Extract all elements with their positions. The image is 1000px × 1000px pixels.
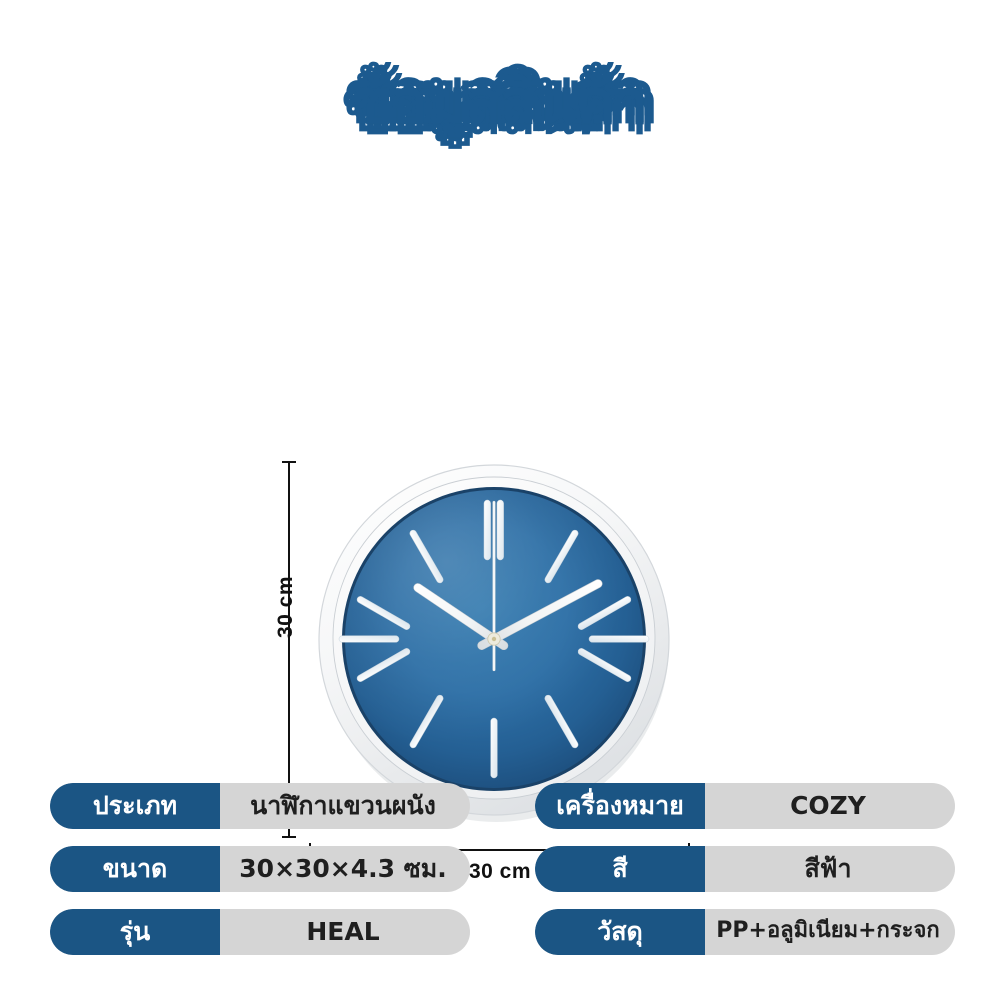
spec-row-material: วัสดุ PP+อลูมิเนียม+กระจก	[535, 909, 955, 955]
spec-key-color: สี	[535, 846, 705, 892]
spec-key-brand: เครื่องหมาย	[535, 783, 705, 829]
spec-table-left: ประเภท นาฬิกาแขวนผนัง ขนาด 30×30×4.3 ซม.…	[50, 783, 470, 972]
spec-row-model: รุ่น HEAL	[50, 909, 470, 955]
spec-row-brand: เครื่องหมาย COZY	[535, 783, 955, 829]
product-image-section: 30 cm 30 cm	[0, 190, 1000, 710]
page-title-container: ข้อมูลสินค้า	[0, 72, 1000, 133]
spec-row-color: สี สีฟ้า	[535, 846, 955, 892]
wall-clock-image	[318, 452, 670, 824]
spec-value-type: นาฬิกาแขวนผนัง	[220, 783, 470, 829]
product-info-infographic: ข้อมูลสินค้า 30 cm 30 cm	[0, 0, 1000, 1000]
spec-key-model: รุ่น	[50, 909, 220, 955]
spec-value-size: 30×30×4.3 ซม.	[220, 846, 470, 892]
dimension-height-label: 30 cm	[274, 552, 298, 662]
spec-key-type: ประเภท	[50, 783, 220, 829]
spec-value-model: HEAL	[220, 909, 470, 955]
spec-table-right: เครื่องหมาย COZY สี สีฟ้า วัสดุ PP+อลูมิ…	[535, 783, 955, 972]
spec-key-material: วัสดุ	[535, 909, 705, 955]
spec-key-size: ขนาด	[50, 846, 220, 892]
clock-glass-reflection	[345, 490, 643, 788]
page-title: ข้อมูลสินค้า	[353, 72, 648, 133]
spec-value-brand: COZY	[705, 783, 955, 829]
spec-row-size: ขนาด 30×30×4.3 ซม.	[50, 846, 470, 892]
spec-value-color: สีฟ้า	[705, 846, 955, 892]
spec-value-material: PP+อลูมิเนียม+กระจก	[705, 909, 955, 955]
dimension-height-cap-top	[282, 461, 296, 463]
spec-row-type: ประเภท นาฬิกาแขวนผนัง	[50, 783, 470, 829]
